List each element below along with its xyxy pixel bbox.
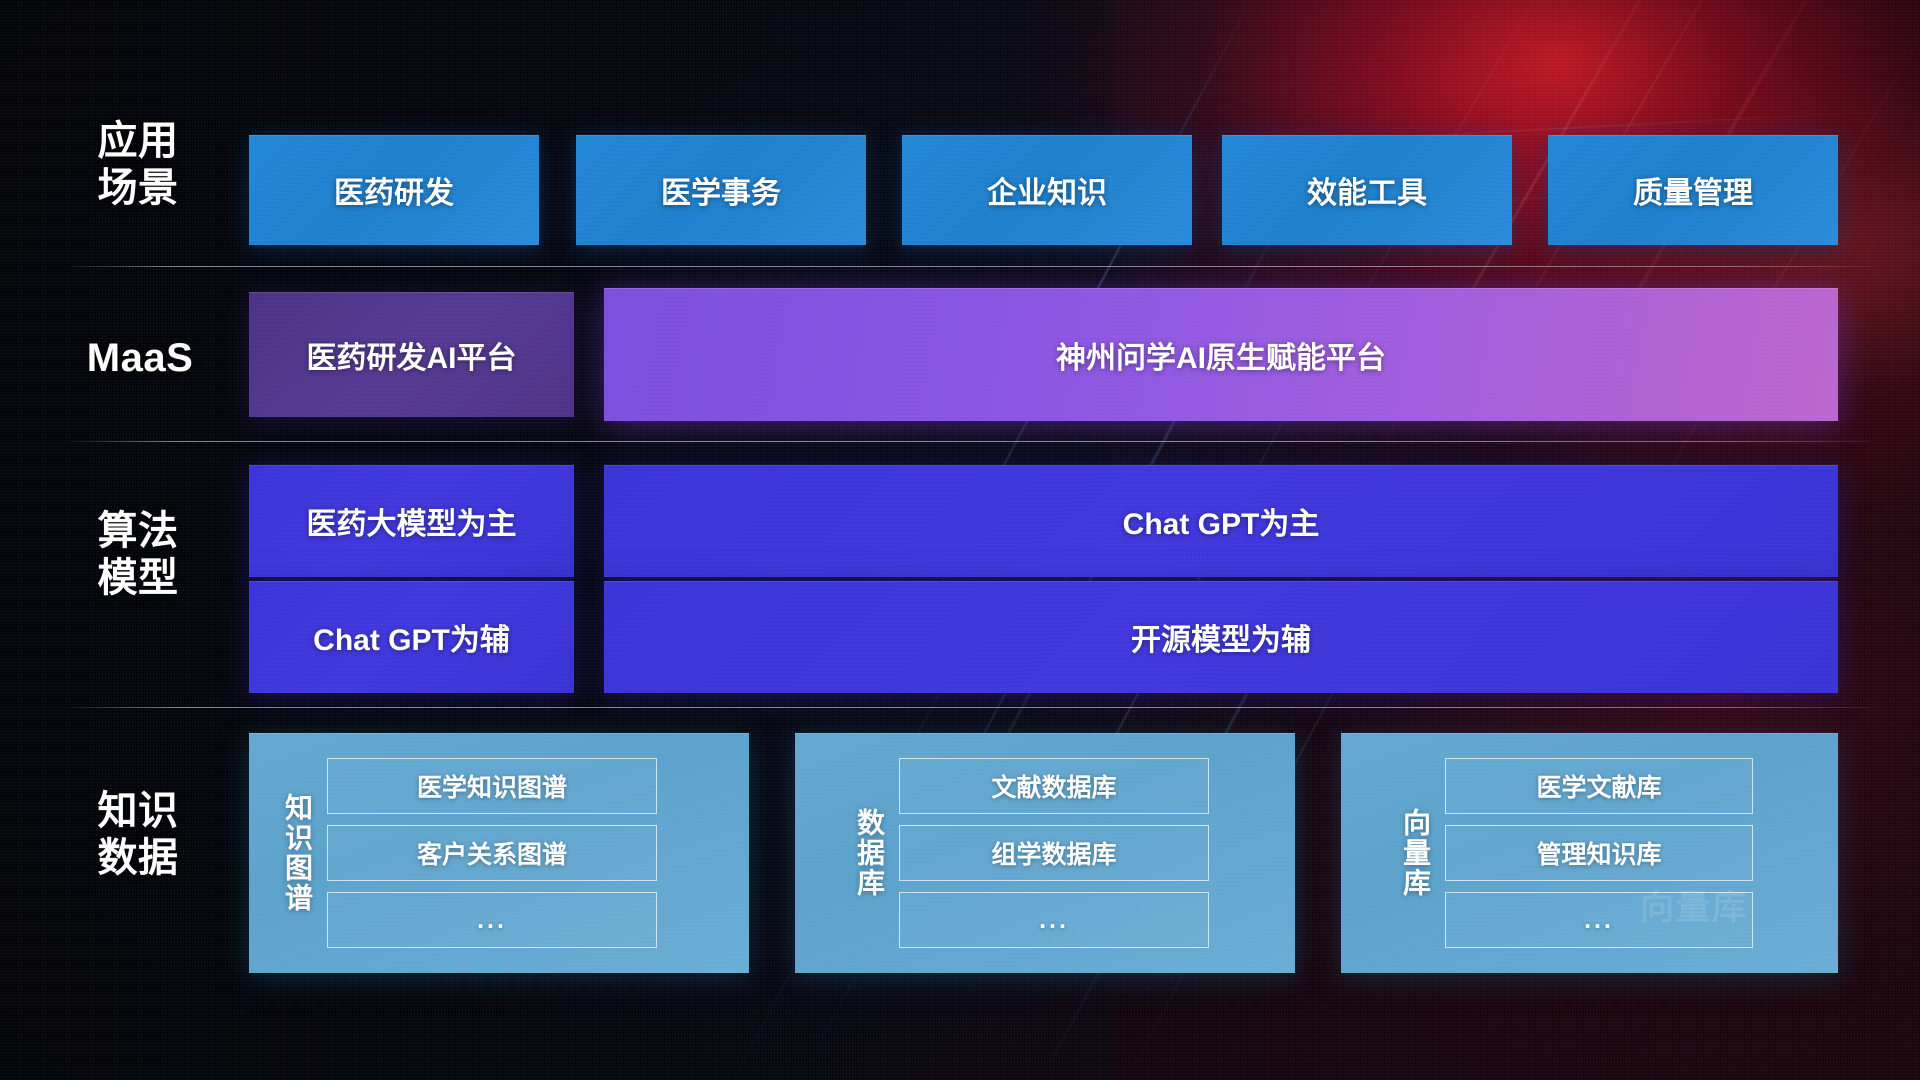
app-box-4[interactable]: 效能工具 [1222,135,1512,245]
maas-enablement-platform-box[interactable]: 神州问学AI原生赋能平台 [604,288,1838,421]
knowledge-panel-1-item-3[interactable]: ... [327,892,657,948]
knowledge-panel-2[interactable]: 数据库 文献数据库 组学数据库 ... [795,733,1295,973]
algo-box-row2-right[interactable]: 开源模型为辅 [604,581,1838,693]
algo-box-row1-left-label: 医药大模型为主 [307,499,517,543]
algo-box-row2-left-label: Chat GPT为辅 [313,615,510,659]
tier-label-maas: MaaS [50,335,230,382]
knowledge-panel-2-item-3[interactable]: ... [899,892,1209,948]
knowledge-panel-2-item-2-label: 组学数据库 [991,835,1116,871]
knowledge-panel-1-items: 医学知识图谱 客户关系图谱 ... [327,758,657,948]
knowledge-panel-1-vertical-label: 知识图谱 [277,747,317,959]
algo-box-row1-left[interactable]: 医药大模型为主 [249,465,574,577]
app-box-3[interactable]: 企业知识 [902,135,1192,245]
app-box-4-label: 效能工具 [1307,168,1427,212]
app-box-2-label: 医学事务 [661,168,781,212]
app-box-5[interactable]: 质量管理 [1548,135,1838,245]
knowledge-panel-3-item-2[interactable]: 管理知识库 [1445,825,1753,881]
divider-3 [70,707,1870,708]
app-box-3-label: 企业知识 [987,168,1107,212]
knowledge-panel-2-items: 文献数据库 组学数据库 ... [899,758,1209,948]
knowledge-panel-2-vertical-label: 数据库 [849,747,889,959]
knowledge-panel-3-vertical-label: 向量库 [1395,747,1435,959]
algo-box-row2-right-label: 开源模型为辅 [1131,615,1311,659]
app-box-5-label: 质量管理 [1633,168,1753,212]
knowledge-panel-1-item-1-label: 医学知识图谱 [417,768,567,804]
algo-box-row2-left[interactable]: Chat GPT为辅 [249,581,574,693]
divider-2 [70,441,1870,442]
maas-enablement-platform-label: 神州问学AI原生赋能平台 [1056,333,1386,377]
knowledge-panel-1-item-1[interactable]: 医学知识图谱 [327,758,657,814]
tier-label-knowledge-data: 知识 数据 [58,788,218,882]
knowledge-panel-3-item-1-label: 医学文献库 [1536,768,1661,804]
app-box-2[interactable]: 医学事务 [576,135,866,245]
knowledge-panel-1-item-2-label: 客户关系图谱 [417,835,567,871]
knowledge-panel-1[interactable]: 知识图谱 医学知识图谱 客户关系图谱 ... [249,733,749,973]
knowledge-panel-1-item-2[interactable]: 客户关系图谱 [327,825,657,881]
knowledge-panel-1-item-3-label: ... [477,906,507,935]
knowledge-panel-3[interactable]: 向量库 医学文献库 管理知识库 ... [1341,733,1838,973]
tier-label-algorithm-models: 算法 模型 [58,508,218,602]
algo-box-row1-right[interactable]: Chat GPT为主 [604,465,1838,577]
knowledge-panel-3-item-2-label: 管理知识库 [1536,835,1661,871]
knowledge-panel-2-item-3-label: ... [1039,906,1069,935]
tier-label-application-scenarios: 应用 场景 [58,118,218,212]
knowledge-panel-2-item-1-label: 文献数据库 [991,768,1116,804]
divider-1 [70,266,1870,267]
app-box-1-label: 医药研发 [334,168,454,212]
knowledge-panel-2-item-1[interactable]: 文献数据库 [899,758,1209,814]
maas-platform-label: 医药研发AI平台 [307,333,517,377]
app-box-1[interactable]: 医药研发 [249,135,539,245]
algo-box-row1-right-label: Chat GPT为主 [1123,499,1320,543]
knowledge-panel-3-item-3-label: ... [1584,906,1614,935]
maas-platform-box[interactable]: 医药研发AI平台 [249,292,574,417]
watermark-text: 向量库 [1640,880,1748,929]
knowledge-panel-2-item-2[interactable]: 组学数据库 [899,825,1209,881]
knowledge-panel-3-item-1[interactable]: 医学文献库 [1445,758,1753,814]
